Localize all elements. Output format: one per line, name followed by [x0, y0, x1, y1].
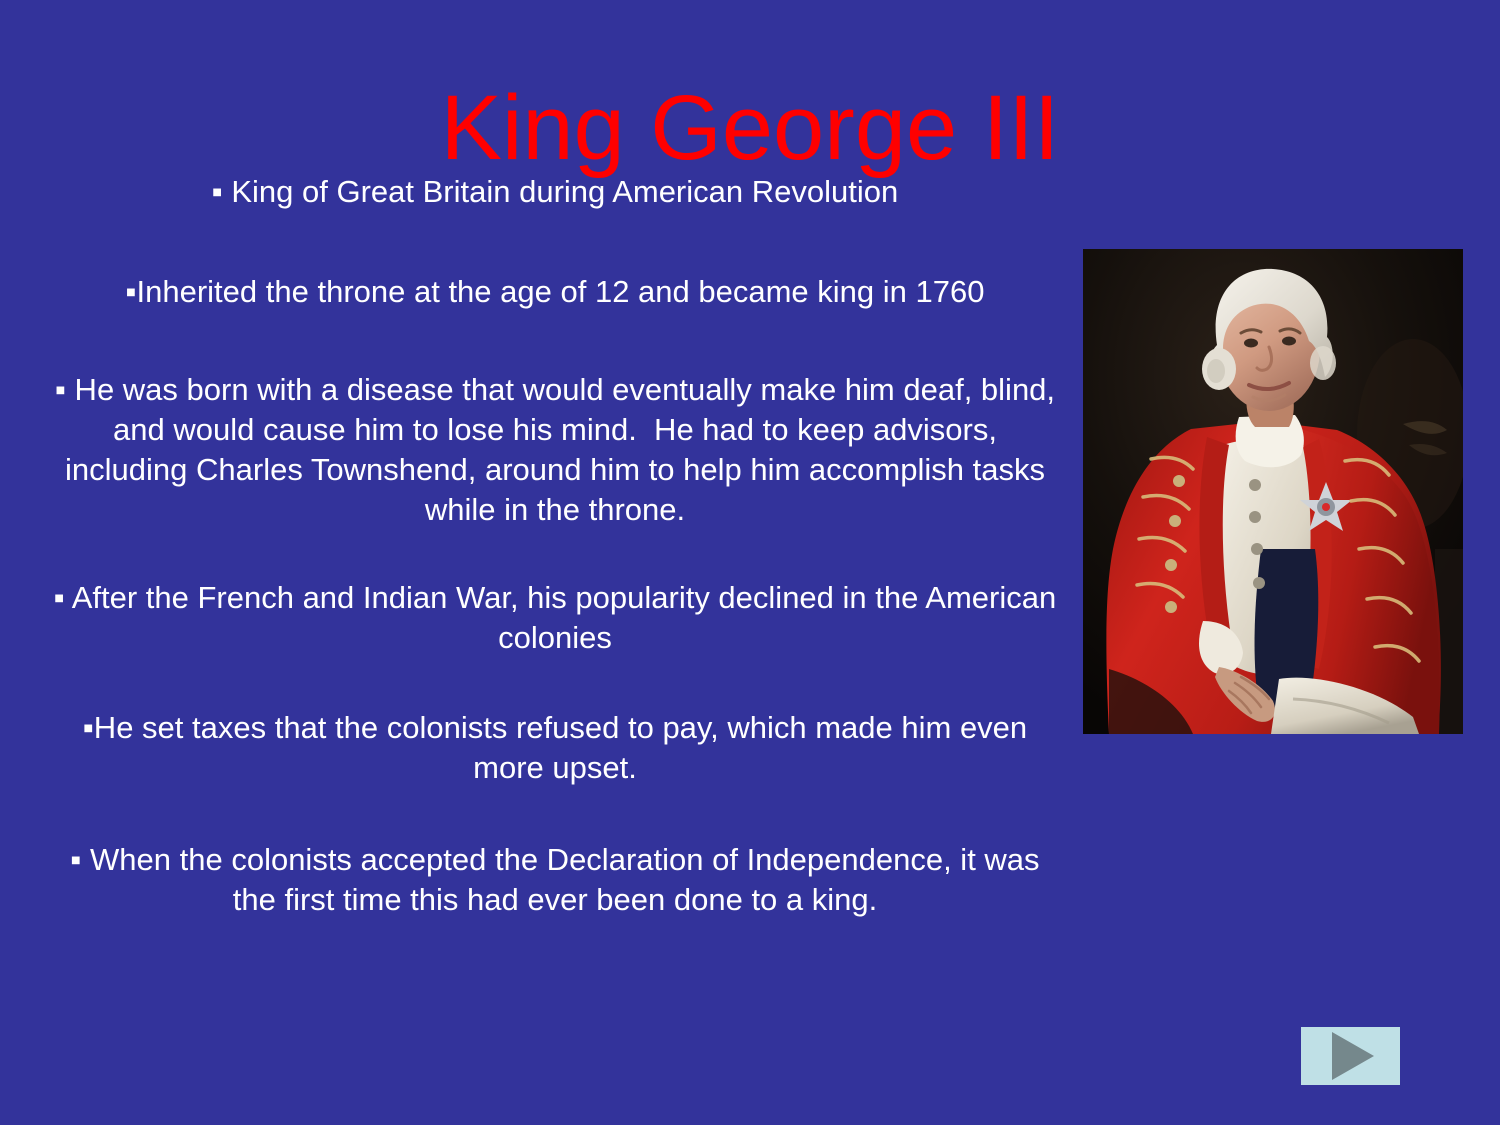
next-slide-button[interactable]	[1301, 1027, 1400, 1085]
page-title: King George III	[0, 76, 1500, 180]
bullet-item: ▪ He was born with a disease that would …	[52, 370, 1058, 530]
bullet-item: ▪ After the French and Indian War, his p…	[52, 578, 1058, 658]
slide-body-text: ▪ King of Great Britain during American …	[52, 172, 1058, 920]
presentation-slide: King George III ▪ King of Great Britain …	[0, 0, 1500, 1125]
king-george-iii-portrait	[1083, 249, 1463, 734]
bullet-item: ▪Inherited the throne at the age of 12 a…	[52, 272, 1058, 312]
bullet-item: ▪ King of Great Britain during American …	[52, 172, 1058, 212]
bullet-item: ▪ When the colonists accepted the Declar…	[52, 840, 1058, 920]
bullet-item: ▪He set taxes that the colonists refused…	[52, 708, 1058, 788]
play-triangle-icon	[1332, 1032, 1374, 1080]
